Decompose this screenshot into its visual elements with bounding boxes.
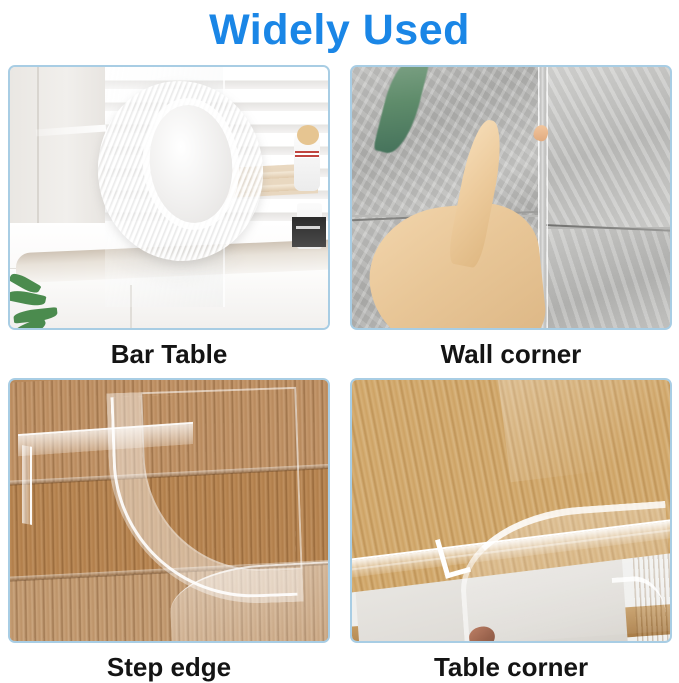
dark-box-object xyxy=(292,217,326,247)
clear-tape-roll xyxy=(98,81,263,261)
plant-leaf xyxy=(8,288,46,308)
ring xyxy=(486,329,512,330)
potted-plant xyxy=(8,266,82,328)
marble-tile xyxy=(546,229,672,330)
panel-table-corner: Table corner xyxy=(350,378,672,646)
caption-step-edge: Step edge xyxy=(8,643,330,683)
plant-leaf xyxy=(13,307,58,324)
photo-table-corner xyxy=(350,378,672,643)
photo-step-edge xyxy=(8,378,330,643)
astronaut-stripe xyxy=(295,151,319,158)
caption-wall-corner: Wall corner xyxy=(350,330,672,378)
panel-wall-corner: Wall corner xyxy=(350,65,672,333)
panel-grid: Bar Table Wall corner xyxy=(0,60,679,683)
panel-bar-table: Bar Table xyxy=(8,65,330,333)
photo-bar-table xyxy=(8,65,330,330)
widely-used-infographic: Widely Used xyxy=(0,0,679,683)
caption-table-corner: Table corner xyxy=(350,643,672,683)
panel-step-edge: Step edge xyxy=(8,378,330,646)
marble-tile xyxy=(546,67,672,227)
caption-bar-table: Bar Table xyxy=(8,330,330,378)
page-title: Widely Used xyxy=(0,0,679,60)
astronaut-helmet-icon xyxy=(297,125,319,145)
clear-tape-folded-lip xyxy=(22,445,32,525)
photo-wall-corner xyxy=(350,65,672,330)
